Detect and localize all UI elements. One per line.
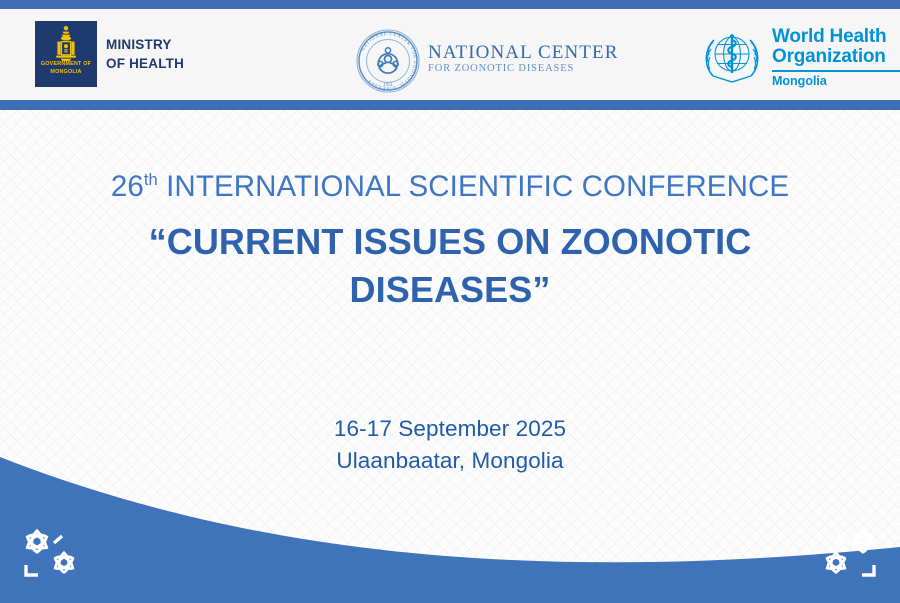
ministry-name: MINISTRY OF HEALTH (106, 35, 184, 73)
conference-edition-line: 26th INTERNATIONAL SCIENTIFIC CONFERENCE (0, 170, 900, 204)
who-emblem-icon (700, 26, 764, 86)
logo-row: GOVERNMENT OF MONGOLIA MINISTRY OF HEALT… (0, 9, 900, 100)
header-divider-bar (0, 100, 900, 110)
event-date: 16-17 September 2025 (0, 413, 900, 445)
triquetra-ornament-left (16, 523, 94, 585)
national-center-logo: NATIONAL CENTER FOR ZOONOTIC DISEASES 19… (352, 25, 618, 97)
title-block: 26th INTERNATIONAL SCIENTIFIC CONFERENCE… (0, 170, 900, 314)
conference-theme-line2: DISEASES” (0, 266, 900, 314)
who-name: World Health Organization Mongolia (772, 26, 900, 88)
emblem-caption: GOVERNMENT OF MONGOLIA (35, 61, 97, 77)
triquetra-ornament-right (806, 523, 884, 585)
wave-shape (0, 457, 900, 603)
national-center-name: NATIONAL CENTER FOR ZOONOTIC DISEASES (428, 43, 618, 79)
nczd-seal-icon: NATIONAL CENTER FOR ZOONOTIC DISEASES 19… (352, 25, 424, 97)
soyombo-icon (53, 25, 79, 65)
conference-title-slide: GOVERNMENT OF MONGOLIA MINISTRY OF HEALT… (0, 0, 900, 603)
seal-year: 1951 (383, 83, 394, 88)
ministry-of-health-logo: GOVERNMENT OF MONGOLIA MINISTRY OF HEALT… (35, 21, 184, 87)
who-underline (772, 70, 900, 72)
conference-theme: “CURRENT ISSUES ON ZOONOTIC DISEASES” (0, 218, 900, 314)
top-accent-bar (0, 0, 900, 9)
ordinal-suffix: th (144, 170, 158, 189)
bottom-wave-decoration (0, 443, 900, 603)
who-logo: World Health Organization Mongolia (700, 26, 900, 88)
conference-theme-line1: “CURRENT ISSUES ON ZOONOTIC (0, 218, 900, 266)
mongolia-state-emblem: GOVERNMENT OF MONGOLIA (35, 21, 97, 87)
